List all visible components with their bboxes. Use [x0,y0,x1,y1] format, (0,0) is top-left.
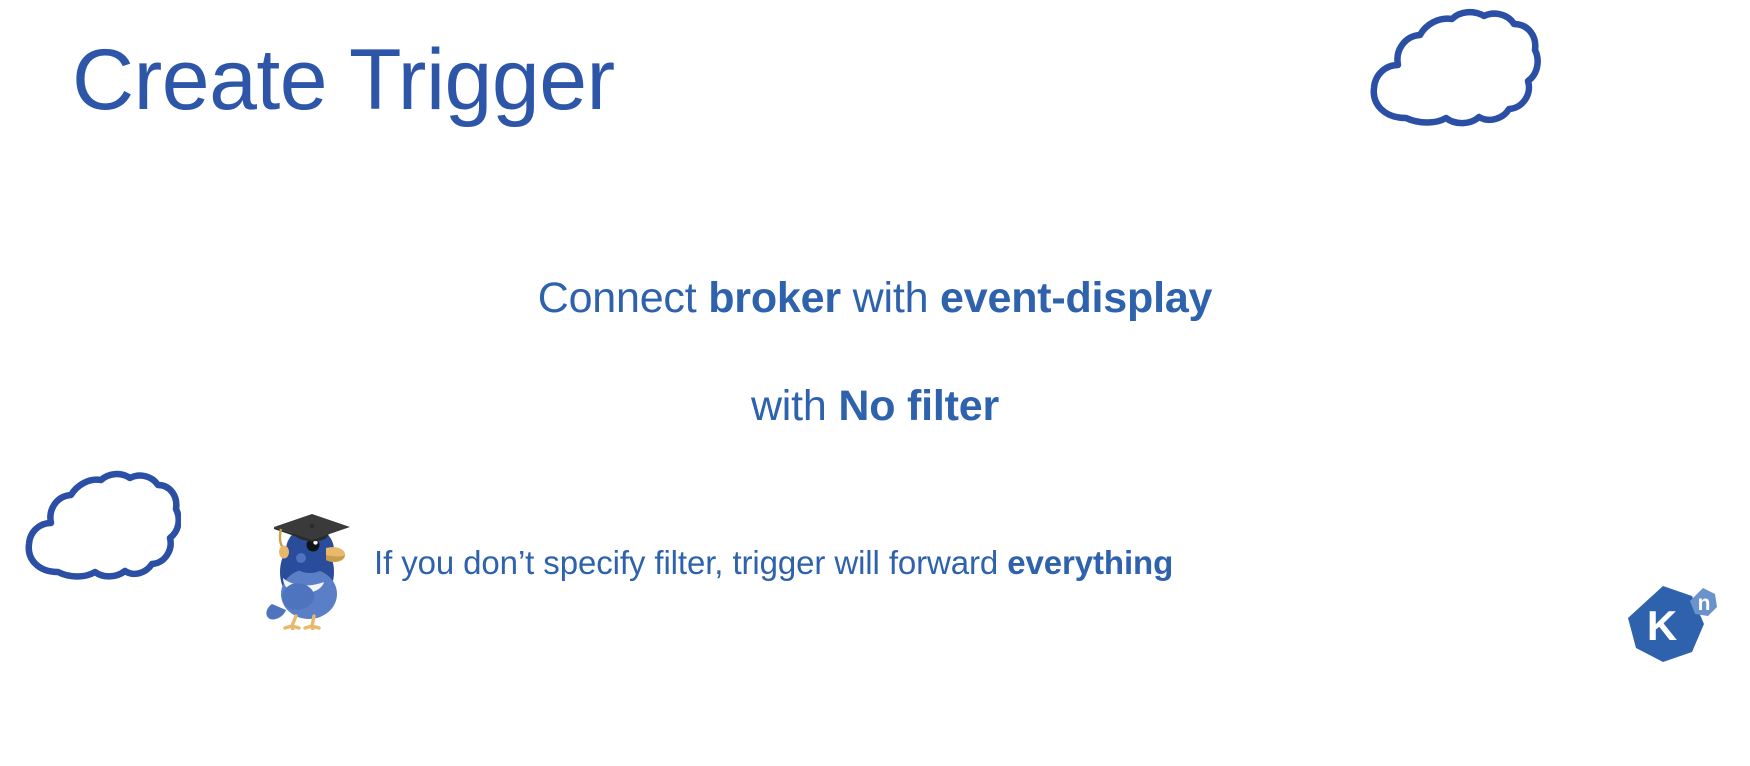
event-display-keyword: event-display [940,274,1212,322]
everything-keyword: everything [1007,544,1173,581]
connect-prefix: Connect [538,274,709,322]
slide-canvas: Create Trigger Connect broker with event… [0,0,1750,766]
cloud-top-right-icon [1362,8,1542,128]
cloud-bottom-left-icon [16,468,181,580]
page-title: Create Trigger [72,35,615,125]
logo-secondary-letter: n [1698,592,1711,615]
body-line-connect: Connect broker with event-display [0,274,1750,323]
footnote-text: If you don’t specify filter, trigger wil… [374,544,1173,582]
footnote-row: If you don’t specify filter, trigger wil… [262,500,1322,630]
knative-logo: K n [1616,578,1726,678]
graduation-bird-mascot-icon [262,500,352,630]
footnote-prefix: If you don’t specify filter, trigger wil… [374,544,1007,581]
broker-keyword: broker [708,274,841,322]
filter-prefix: with [751,382,838,430]
body-line-filter: with No filter [0,382,1750,431]
no-filter-keyword: No filter [838,382,999,430]
connect-middle: with [841,274,940,322]
logo-primary-letter: K [1647,602,1677,649]
